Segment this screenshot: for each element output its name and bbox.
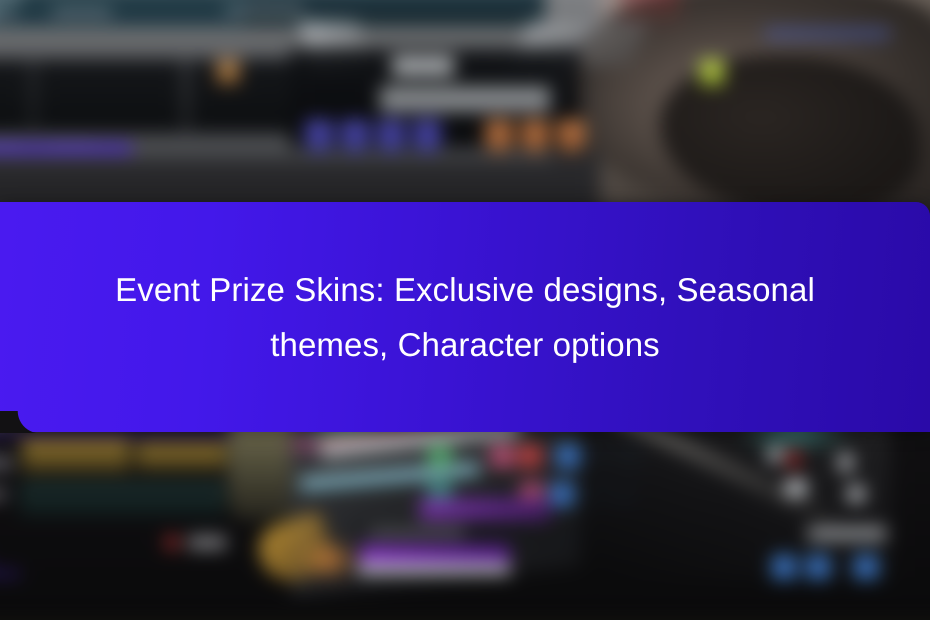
- hud-notification-blur: [765, 28, 890, 39]
- loadout-panel-header: [0, 0, 250, 27]
- hud-chip: [428, 444, 452, 468]
- weapon-name-blur: [0, 8, 16, 16]
- hud-chip: [772, 555, 796, 579]
- weapon-name-blur: [52, 8, 112, 16]
- hud-chip: [518, 444, 542, 468]
- weapon-stat-label-blur: [368, 527, 464, 537]
- gold-item-row: [22, 438, 130, 472]
- team-icon-blue: [377, 120, 405, 152]
- hud-chip: [806, 555, 830, 579]
- skin-accent-purple: [420, 498, 550, 520]
- inventory-label-blur: [0, 457, 12, 469]
- accent-underline: [0, 572, 20, 576]
- weapon-red-indicator: [788, 450, 799, 467]
- team-icon-orange: [485, 120, 513, 152]
- rarity-badge-lime: [700, 60, 724, 86]
- hud-timer-blur: [392, 56, 454, 76]
- hud-chip: [490, 444, 514, 468]
- weapon-card: [0, 59, 32, 133]
- hud-mode-label-blur: [380, 86, 550, 112]
- weapon-highlight-dot: [839, 454, 852, 471]
- weapon-light-strip: [808, 528, 886, 542]
- inventory-button-blur: [188, 536, 226, 549]
- hud-chip: [556, 444, 580, 468]
- team-icon-orange: [521, 120, 549, 152]
- weapon-highlight-dot: [848, 486, 864, 502]
- gold-item-row: [136, 442, 226, 470]
- team-icon-orange: [557, 120, 585, 152]
- page-title: Event Prize Skins: Exclusive designs, Se…: [70, 262, 860, 372]
- hero-title-banner: Event Prize Skins: Exclusive designs, Se…: [0, 202, 930, 432]
- weapon-highlight-dot: [785, 480, 807, 496]
- muzzle-flash-glow: [300, 538, 360, 582]
- weapon-highlight-dot: [768, 448, 782, 462]
- screenshot-root: Event Prize Skins: Exclusive designs, Se…: [0, 0, 930, 620]
- skin-accent-white: [358, 563, 510, 575]
- hud-chip: [854, 555, 878, 579]
- weapon-card: [34, 59, 184, 133]
- rarity-badge-orange: [217, 60, 239, 84]
- skin-accent-purple: [360, 545, 510, 563]
- status-dot-icon: [165, 535, 179, 550]
- team-icon-blue: [341, 120, 369, 152]
- team-icon-blue: [413, 120, 441, 152]
- weapon-name-blur: [225, 6, 303, 14]
- team-icon-blue: [305, 120, 333, 152]
- inventory-label-blur: [0, 488, 6, 500]
- inventory-sub-panel: [20, 480, 225, 516]
- progress-bar: [0, 144, 132, 153]
- hud-chip: [550, 482, 574, 506]
